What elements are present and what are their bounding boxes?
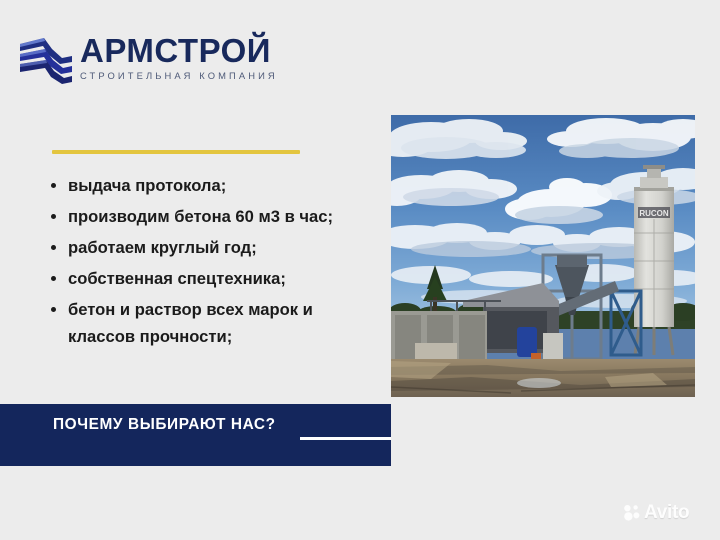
features-list: выдача протокола; производим бетона 60 м… <box>48 172 378 354</box>
yellow-divider <box>52 150 300 154</box>
banner-rule <box>300 437 391 440</box>
list-item: выдача протокола; <box>48 172 378 199</box>
concrete-batching-plant-photo: RUCON <box>391 115 695 397</box>
slide-canvas: АРМСТРОЙ СТРОИТЕЛЬНАЯ КОМПАНИЯ выдача пр… <box>0 0 720 540</box>
list-item: работаем круглый год; <box>48 234 378 261</box>
logo-tagline: СТРОИТЕЛЬНАЯ КОМПАНИЯ <box>80 70 318 82</box>
avito-watermark: Avito <box>623 500 703 524</box>
why-choose-us-banner: ПОЧЕМУ ВЫБИРАЮТ НАС? <box>0 404 391 466</box>
logo-text: АРМСТРОЙ СТРОИТЕЛЬНАЯ КОМПАНИЯ <box>80 33 318 82</box>
armstroy-building-mark-icon <box>18 36 74 86</box>
company-logo: АРМСТРОЙ СТРОИТЕЛЬНАЯ КОМПАНИЯ <box>18 33 318 91</box>
svg-text:RUCON: RUCON <box>639 209 669 218</box>
list-item: бетон и раствор всех марок и классов про… <box>48 296 378 350</box>
avito-label: Avito <box>644 503 689 522</box>
list-item: собственная спецтехника; <box>48 265 378 292</box>
list-item: производим бетона 60 м3 в час; <box>48 203 378 230</box>
logo-wordmark: АРМСТРОЙ <box>80 33 318 69</box>
banner-title: ПОЧЕМУ ВЫБИРАЮТ НАС? <box>53 414 303 436</box>
avito-dots-icon <box>623 504 640 521</box>
